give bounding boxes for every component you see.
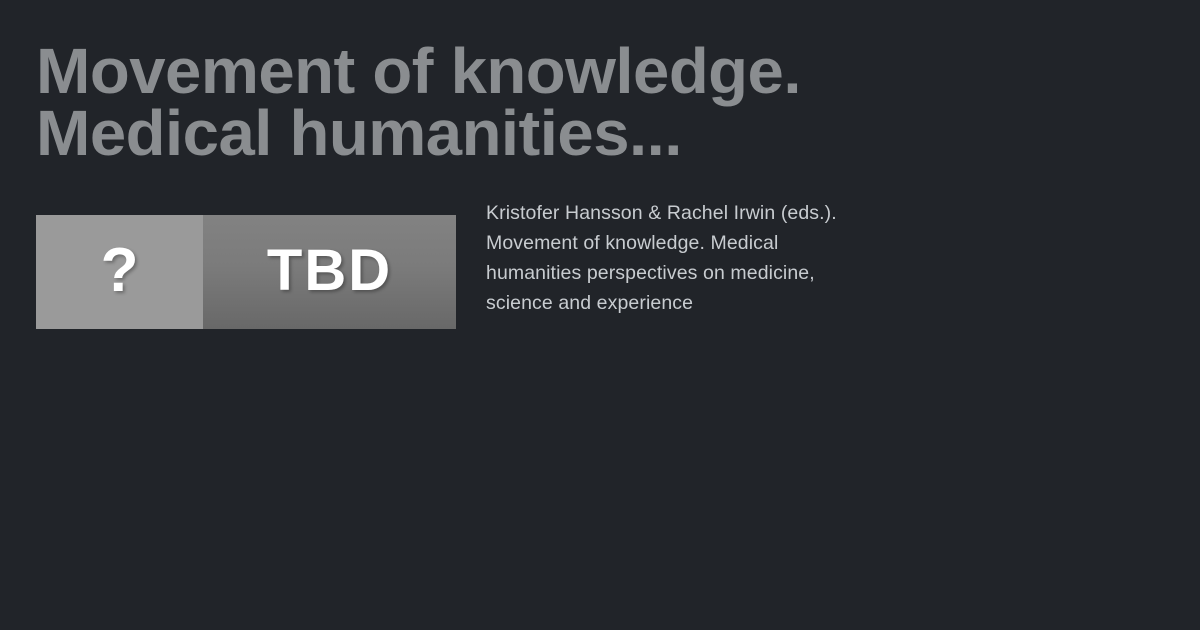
page-title: Movement of knowledge. Medical humanitie… bbox=[36, 40, 1056, 164]
content-row: ? TBD Kristofer Hansson & Rachel Irwin (… bbox=[36, 215, 1166, 338]
description-text: Kristofer Hansson & Rachel Irwin (eds.).… bbox=[486, 198, 866, 318]
thumbnail-placeholder: ? TBD bbox=[36, 215, 456, 329]
question-mark-icon: ? bbox=[101, 240, 139, 302]
tbd-label: TBD bbox=[267, 242, 392, 300]
thumbnail-question-panel: ? bbox=[36, 215, 203, 329]
preview-card: Movement of knowledge. Medical humanitie… bbox=[0, 0, 1200, 630]
thumbnail-tbd-panel: TBD bbox=[203, 215, 456, 329]
